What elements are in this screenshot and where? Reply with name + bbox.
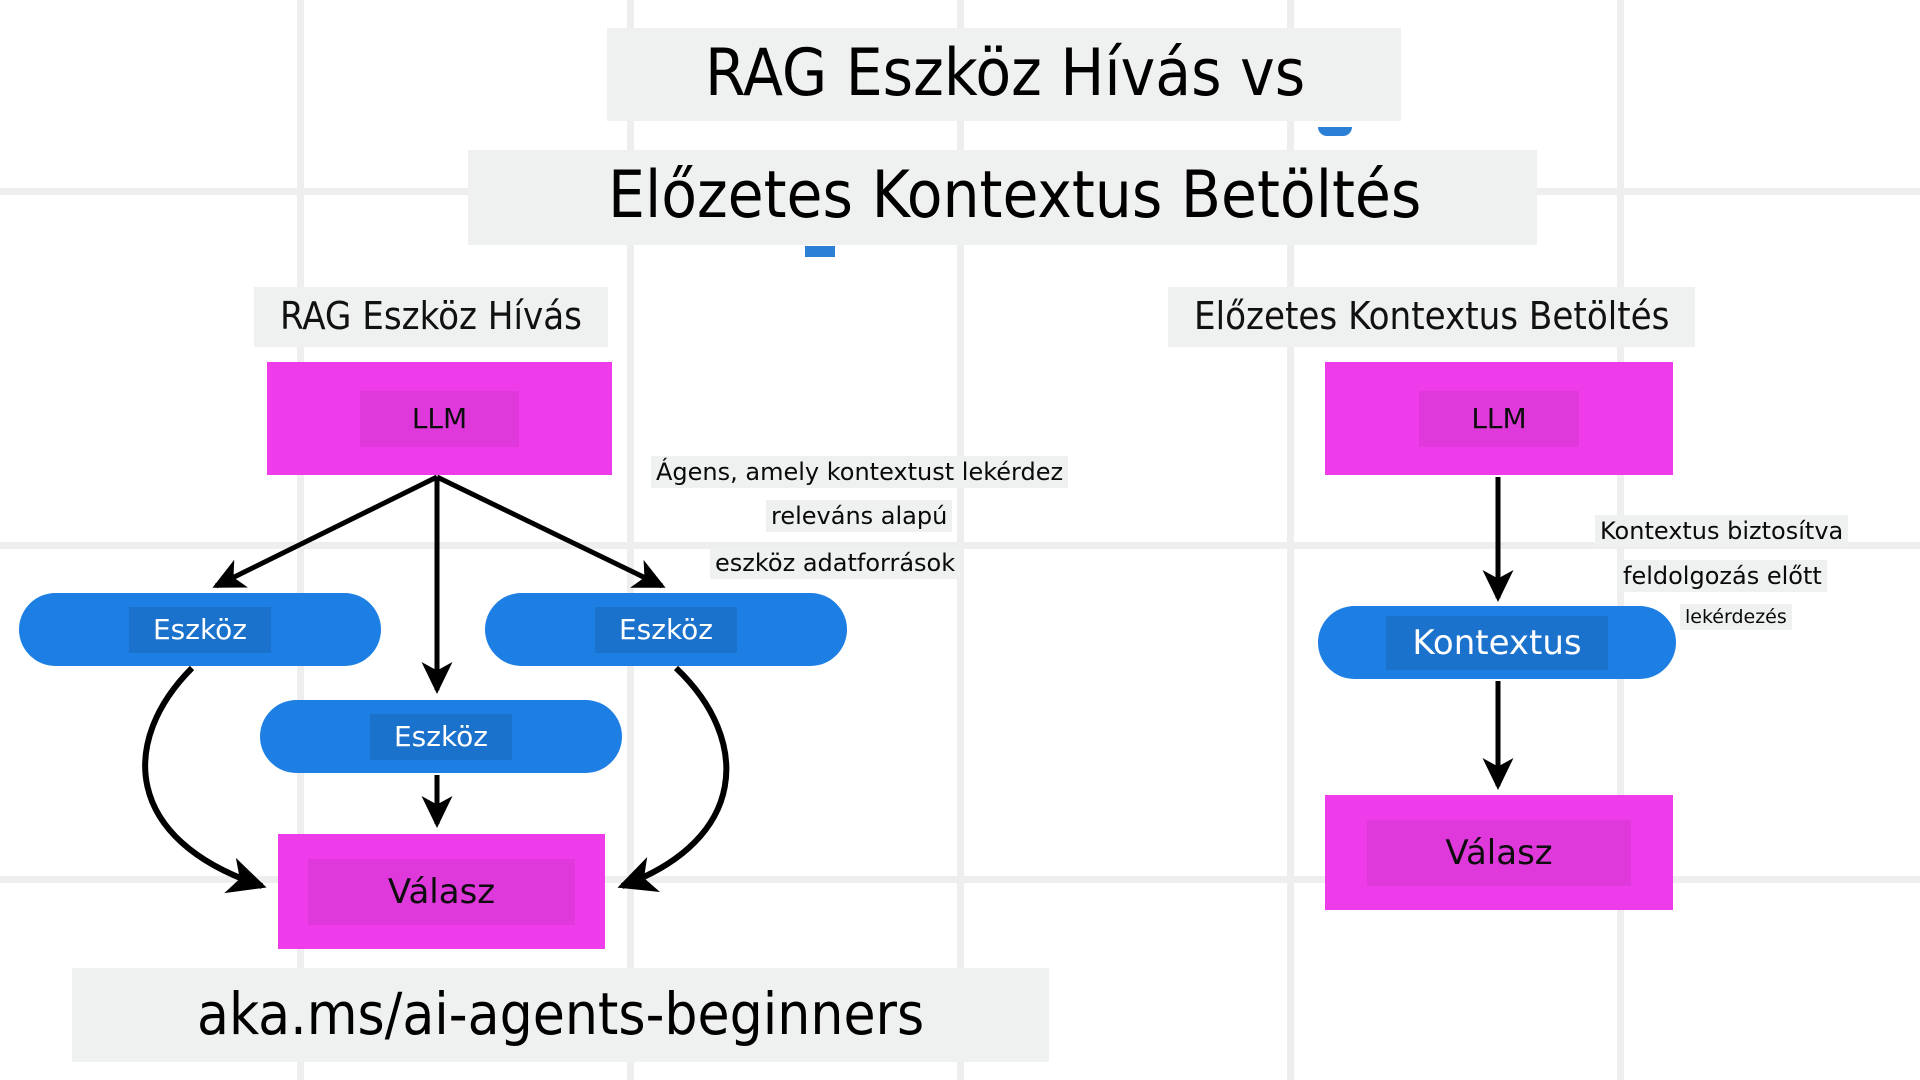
node-answer-right[interactable]: Válasz: [1325, 795, 1673, 910]
node-label: Válasz: [1367, 820, 1630, 886]
node-llm-left[interactable]: LLM: [267, 362, 612, 475]
node-label: Eszköz: [595, 607, 737, 653]
arrow-tool-b-to-answer: [622, 668, 726, 886]
panel-header-rag-tool-call: RAG Eszköz Hívás: [254, 287, 608, 347]
annotation-right-line-3: lekérdezés: [1680, 604, 1792, 630]
node-label: LLM: [360, 391, 519, 447]
node-label: Eszköz: [129, 607, 271, 653]
annotation-right-line-2: feldolgozás előtt: [1618, 560, 1827, 592]
arrow-llm-to-tool-a: [216, 477, 437, 586]
node-llm-right[interactable]: LLM: [1325, 362, 1673, 475]
diagram-canvas: RAG Eszköz Hívás vs Előzetes Kontextus B…: [0, 0, 1920, 1080]
annotation-left-line-3: eszköz adatforrások: [710, 547, 960, 579]
node-answer-left[interactable]: Válasz: [278, 834, 605, 949]
node-label: LLM: [1419, 391, 1578, 447]
node-context[interactable]: Kontextus: [1318, 606, 1676, 679]
annotation-left-line-1: Ágens, amely kontextust lekérdez: [651, 456, 1068, 488]
node-tool-b[interactable]: Eszköz: [485, 593, 847, 666]
arrow-tool-a-to-answer: [145, 668, 262, 886]
node-label: Kontextus: [1386, 616, 1607, 670]
blue-artifact-mark: [805, 246, 835, 257]
panel-header-preloaded-context: Előzetes Kontextus Betöltés: [1168, 287, 1695, 347]
arrow-llm-to-tool-b: [437, 477, 662, 586]
annotation-left-line-2: releváns alapú: [766, 500, 952, 532]
footer-url[interactable]: aka.ms/ai-agents-beginners: [72, 968, 1049, 1062]
diagram-title-line-2: Előzetes Kontextus Betöltés: [468, 150, 1537, 245]
diagram-title-line-1: RAG Eszköz Hívás vs: [607, 28, 1401, 121]
node-tool-c[interactable]: Eszköz: [260, 700, 622, 773]
node-label: Eszköz: [370, 714, 512, 760]
node-label: Válasz: [308, 859, 575, 925]
node-tool-a[interactable]: Eszköz: [19, 593, 381, 666]
annotation-right-line-1: Kontextus biztosítva: [1595, 515, 1848, 547]
blue-artifact-mark: [1318, 127, 1352, 136]
